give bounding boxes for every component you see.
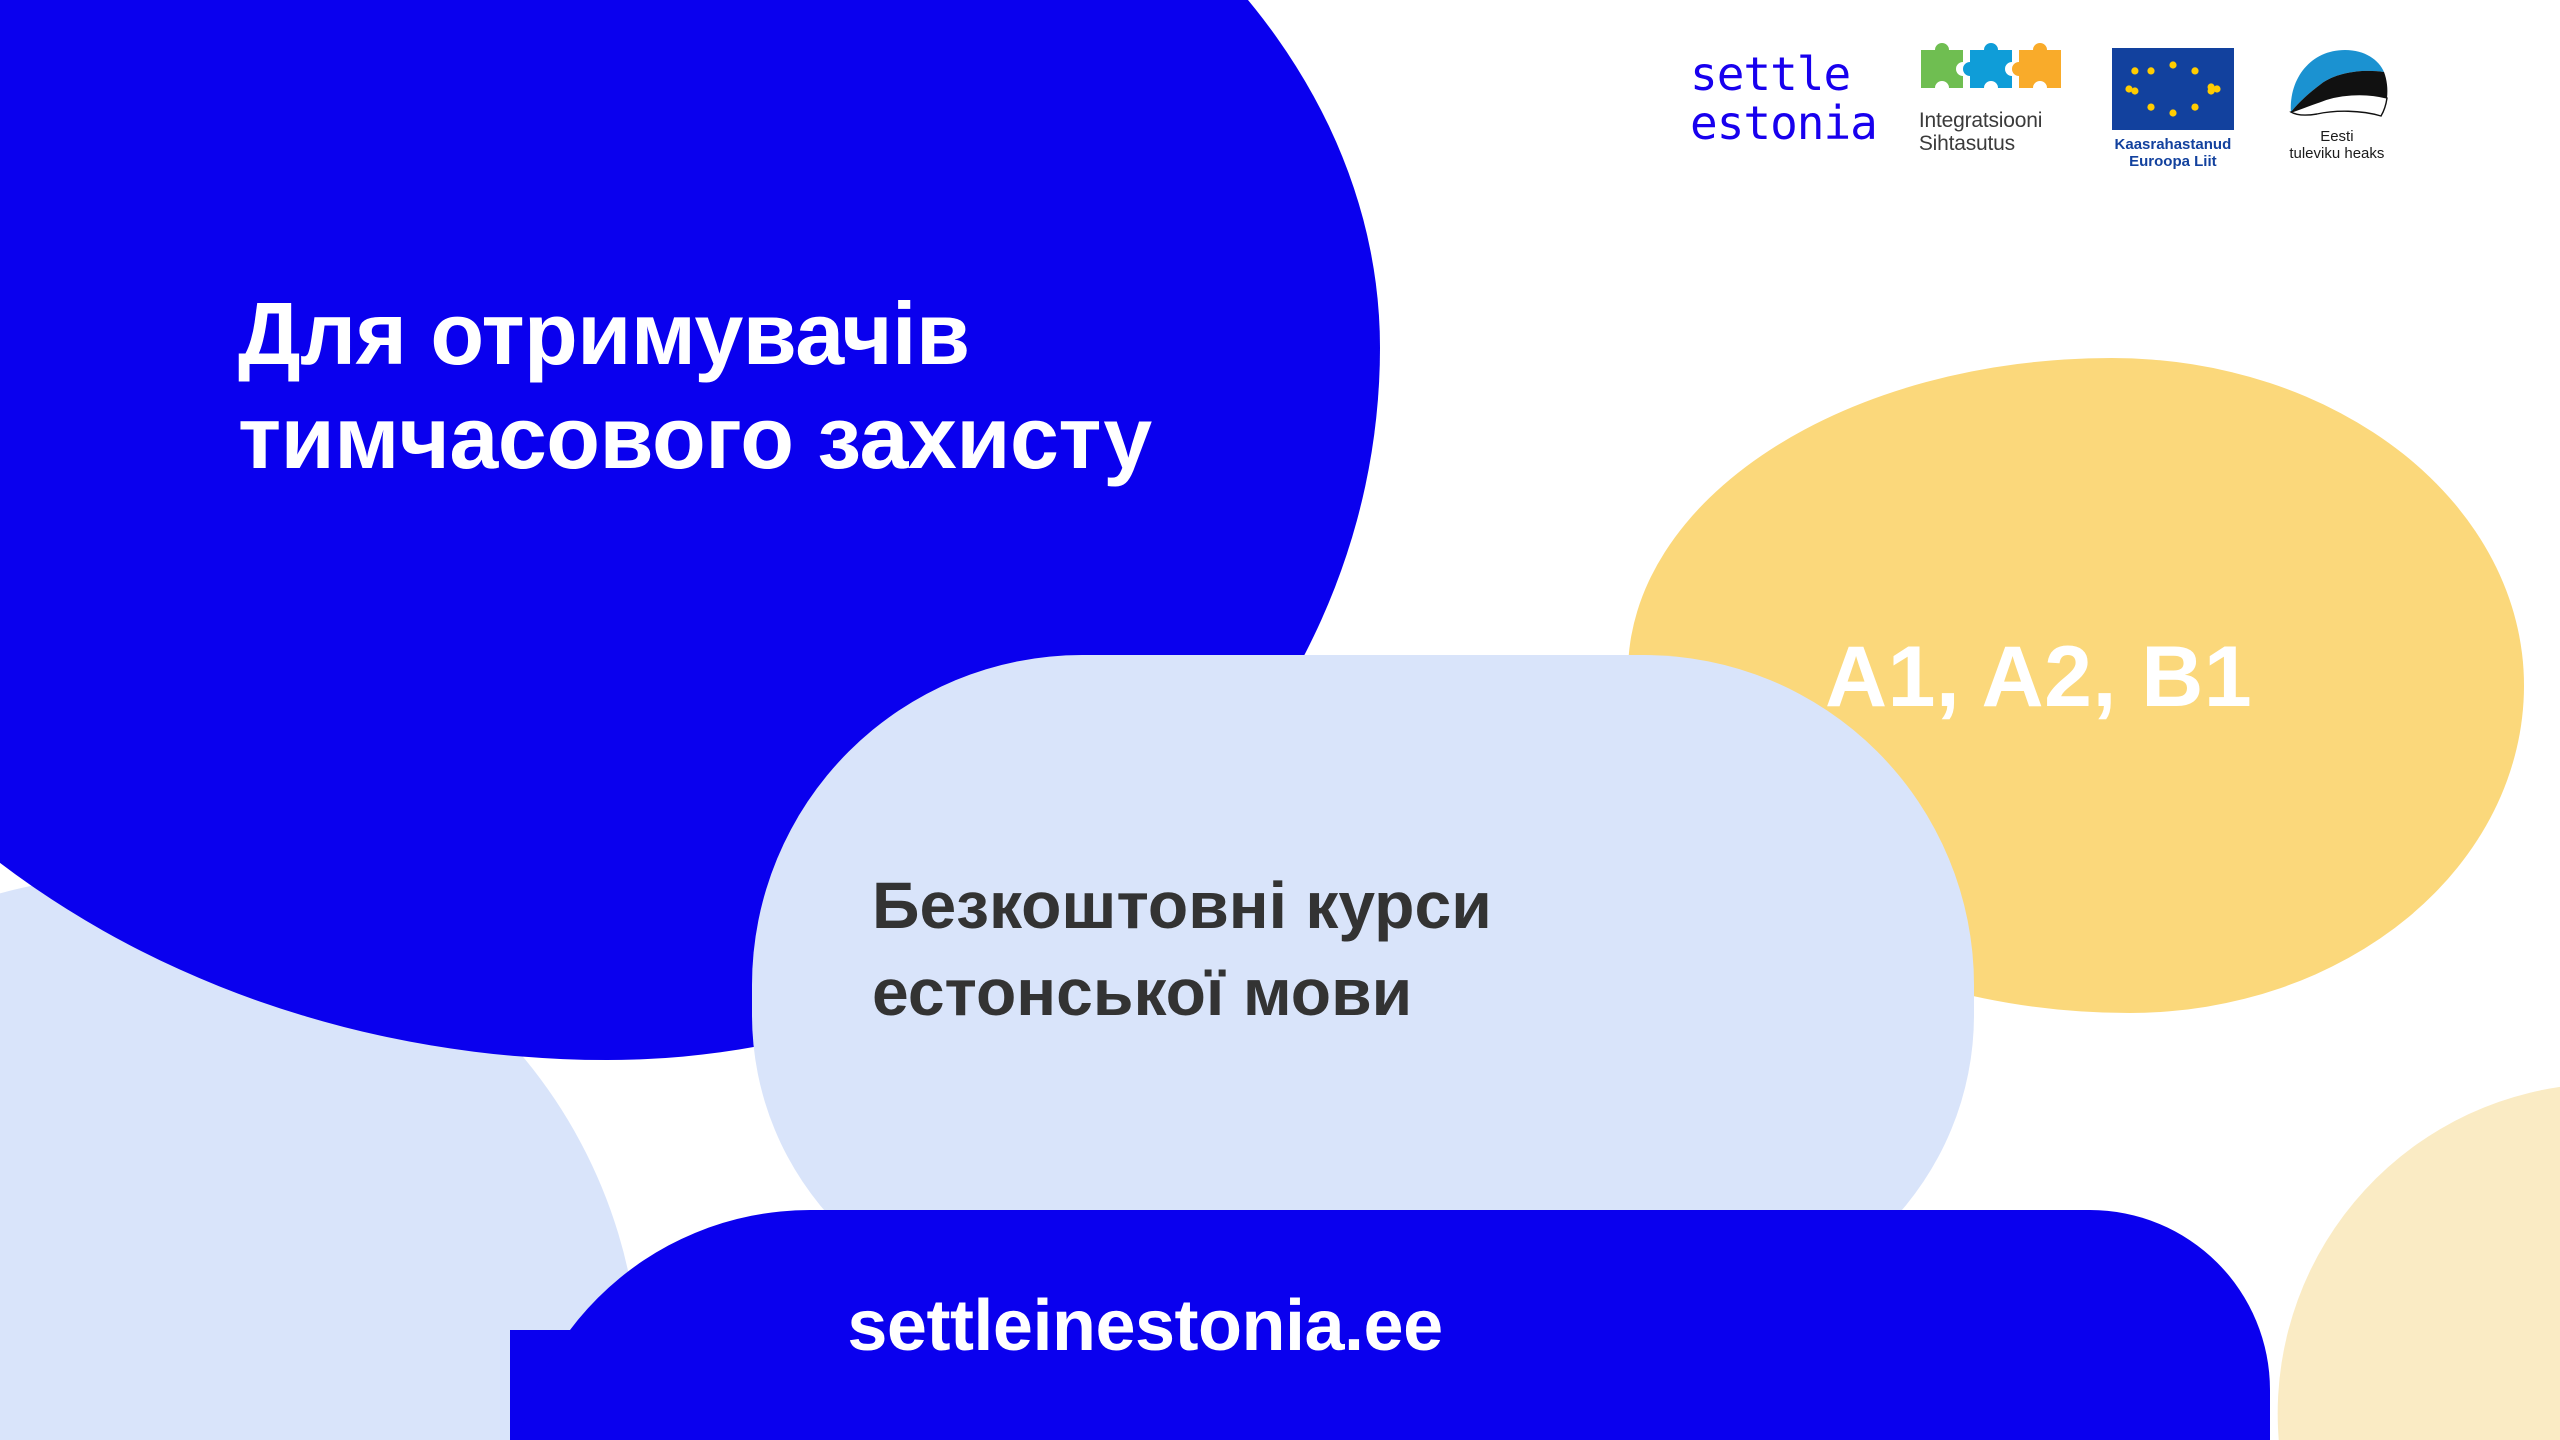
estonia-flag-swoosh-icon <box>2285 42 2389 124</box>
subheading: Безкоштовні курси естонської мови <box>872 862 1872 1036</box>
european-union-caption-line-1: Kaasrahastanud <box>2115 136 2232 153</box>
website-url[interactable]: settleinestonia.ee <box>0 1285 2290 1367</box>
estonia-caption: Eesti tuleviku heaks <box>2277 128 2397 163</box>
headline-line-1: Для отримувачів <box>238 282 1638 386</box>
estonia-caption-line-2: tuleviku heaks <box>2289 145 2384 162</box>
logo-strip: settle estonia Integratsiooni Sihtasutus <box>1690 36 2397 166</box>
european-union-caption: Kaasrahastanud Euroopa Liit <box>2111 137 2235 171</box>
cream-blob-bottom-right <box>2235 1043 2560 1440</box>
subheading-line-2: естонської мови <box>872 949 1872 1036</box>
european-union-caption-line-2: Euroopa Liit <box>2129 153 2217 170</box>
integration-foundation-caption-line-1: Integratsiooni <box>1919 109 2042 132</box>
settle-estonia-logo: settle estonia <box>1690 36 1877 148</box>
settle-estonia-logo-line-1: settle <box>1690 50 1877 99</box>
integration-foundation-caption-line-2: Sihtasutus <box>1919 132 2015 155</box>
puzzle-pieces-icon <box>1919 42 2069 104</box>
integration-foundation-logo: Integratsiooni Sihtasutus <box>1919 36 2069 155</box>
eu-flag-icon <box>2112 48 2234 130</box>
estonia-logo: Eesti tuleviku heaks <box>2277 36 2397 163</box>
integration-foundation-caption: Integratsiooni Sihtasutus <box>1919 110 2069 155</box>
headline-line-2: тимчасового захисту <box>238 386 1638 490</box>
estonia-caption-line-1: Eesti <box>2320 128 2353 145</box>
european-union-logo: Kaasrahastanud Euroopa Liit <box>2111 36 2235 171</box>
language-levels-label: A1, A2, B1 <box>1825 628 2385 727</box>
headline: Для отримувачів тимчасового захисту <box>238 282 1638 490</box>
subheading-line-1: Безкоштовні курси <box>872 862 1872 949</box>
promotional-banner: Для отримувачів тимчасового захисту A1, … <box>0 0 2560 1440</box>
settle-estonia-logo-line-2: estonia <box>1690 99 1877 148</box>
